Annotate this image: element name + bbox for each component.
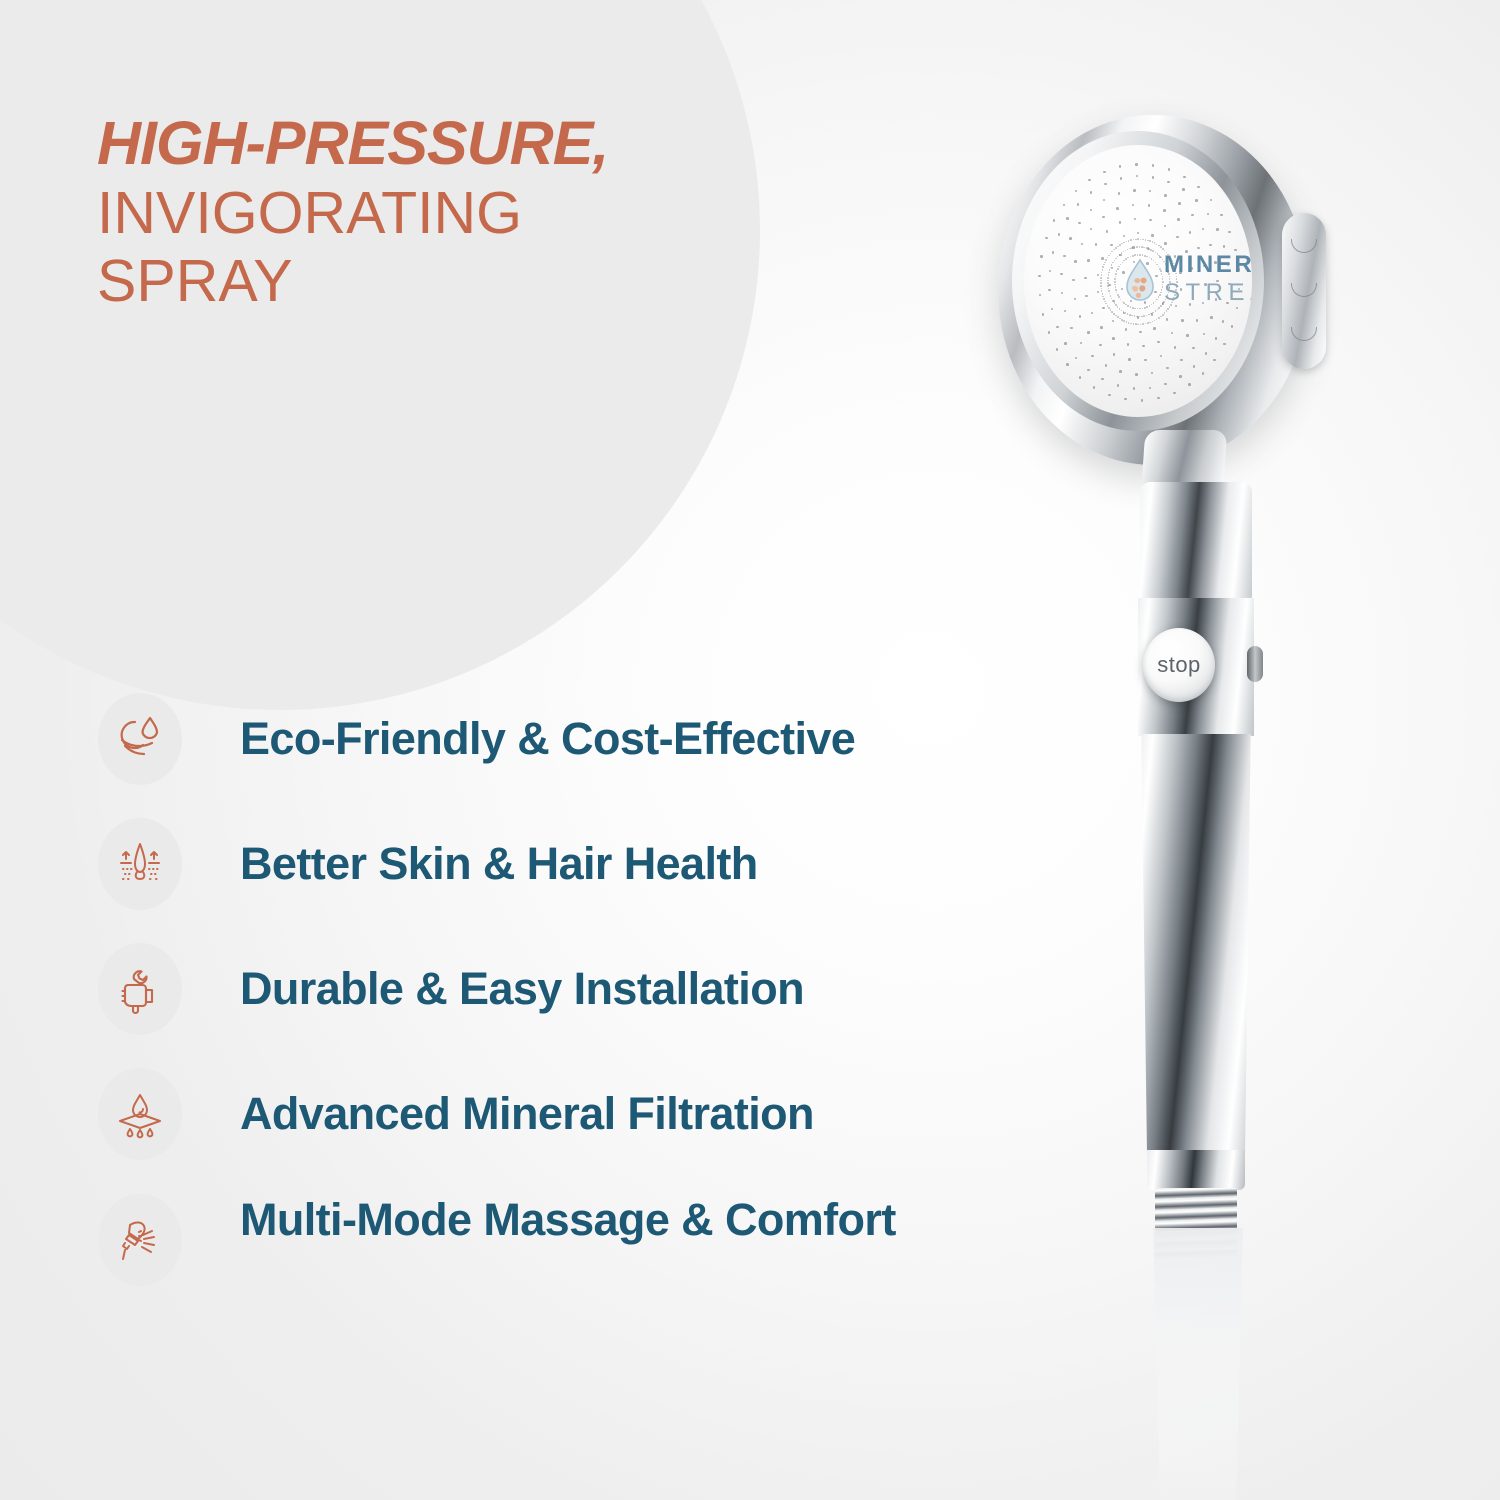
brand-logo-text: MINERAL STREAM [1164, 253, 1252, 305]
hair-follicle-icon [98, 818, 182, 910]
handle-collar [1140, 482, 1252, 600]
product-reflection [1147, 1228, 1249, 1500]
eco-water-drop-hand-icon [98, 693, 182, 785]
feature-item-filtration: Advanced Mineral Filtration [98, 1051, 1058, 1176]
shower-head-assembly: MINERAL STREAM [980, 105, 1320, 475]
spray-mode-selector-icon[interactable] [1282, 213, 1326, 369]
decorative-circle [0, 0, 760, 710]
feature-label: Better Skin & Hair Health [240, 838, 758, 890]
feature-item-eco-friendly: Eco-Friendly & Cost-Effective [98, 676, 1058, 801]
feature-label: Advanced Mineral Filtration [240, 1088, 814, 1140]
brand-name-line-1: MINERAL [1164, 253, 1252, 277]
filtration-membrane-icon [98, 1068, 182, 1160]
feature-item-durable-install: Durable & Easy Installation [98, 926, 1058, 1051]
hose-thread-connector [1155, 1188, 1237, 1232]
feature-list: Eco-Friendly & Cost-Effective Better Ski… [98, 676, 1058, 1301]
stop-button-label: stop [1157, 652, 1201, 678]
feature-label: Durable & Easy Installation [240, 963, 804, 1015]
mineral-water-drop-icon [1120, 257, 1160, 309]
product-image-shower-head: MINERAL STREAM stop [975, 100, 1395, 1500]
handle-side-nub [1247, 646, 1263, 682]
feature-label: Multi-Mode Massage & Comfort [240, 1194, 896, 1246]
headline-line-3: SPRAY [97, 247, 737, 315]
handle-base [1147, 1150, 1245, 1190]
headline: HIGH-PRESSURE, INVIGORATING SPRAY [97, 108, 737, 316]
feature-item-multi-mode: Multi-Mode Massage & Comfort [98, 1176, 1058, 1301]
handle-grip [1139, 734, 1253, 1154]
mode-option-1[interactable] [1291, 239, 1317, 253]
hand-wrench-icon [98, 943, 182, 1035]
feature-label: Eco-Friendly & Cost-Effective [240, 713, 855, 765]
mode-option-2[interactable] [1291, 283, 1317, 297]
brand-name-line-2: STREAM [1164, 281, 1252, 305]
stop-button[interactable]: stop [1143, 628, 1215, 702]
mode-option-3[interactable] [1291, 327, 1317, 341]
product-infographic: HIGH-PRESSURE, INVIGORATING SPRAY Eco-Fr… [0, 0, 1500, 1500]
headline-line-1: HIGH-PRESSURE, [97, 108, 737, 179]
shower-head-face-plate: MINERAL STREAM [1024, 145, 1252, 417]
headline-line-2: INVIGORATING [97, 179, 737, 247]
shower-head-spray-icon [98, 1194, 182, 1286]
feature-item-skin-hair: Better Skin & Hair Health [98, 801, 1058, 926]
